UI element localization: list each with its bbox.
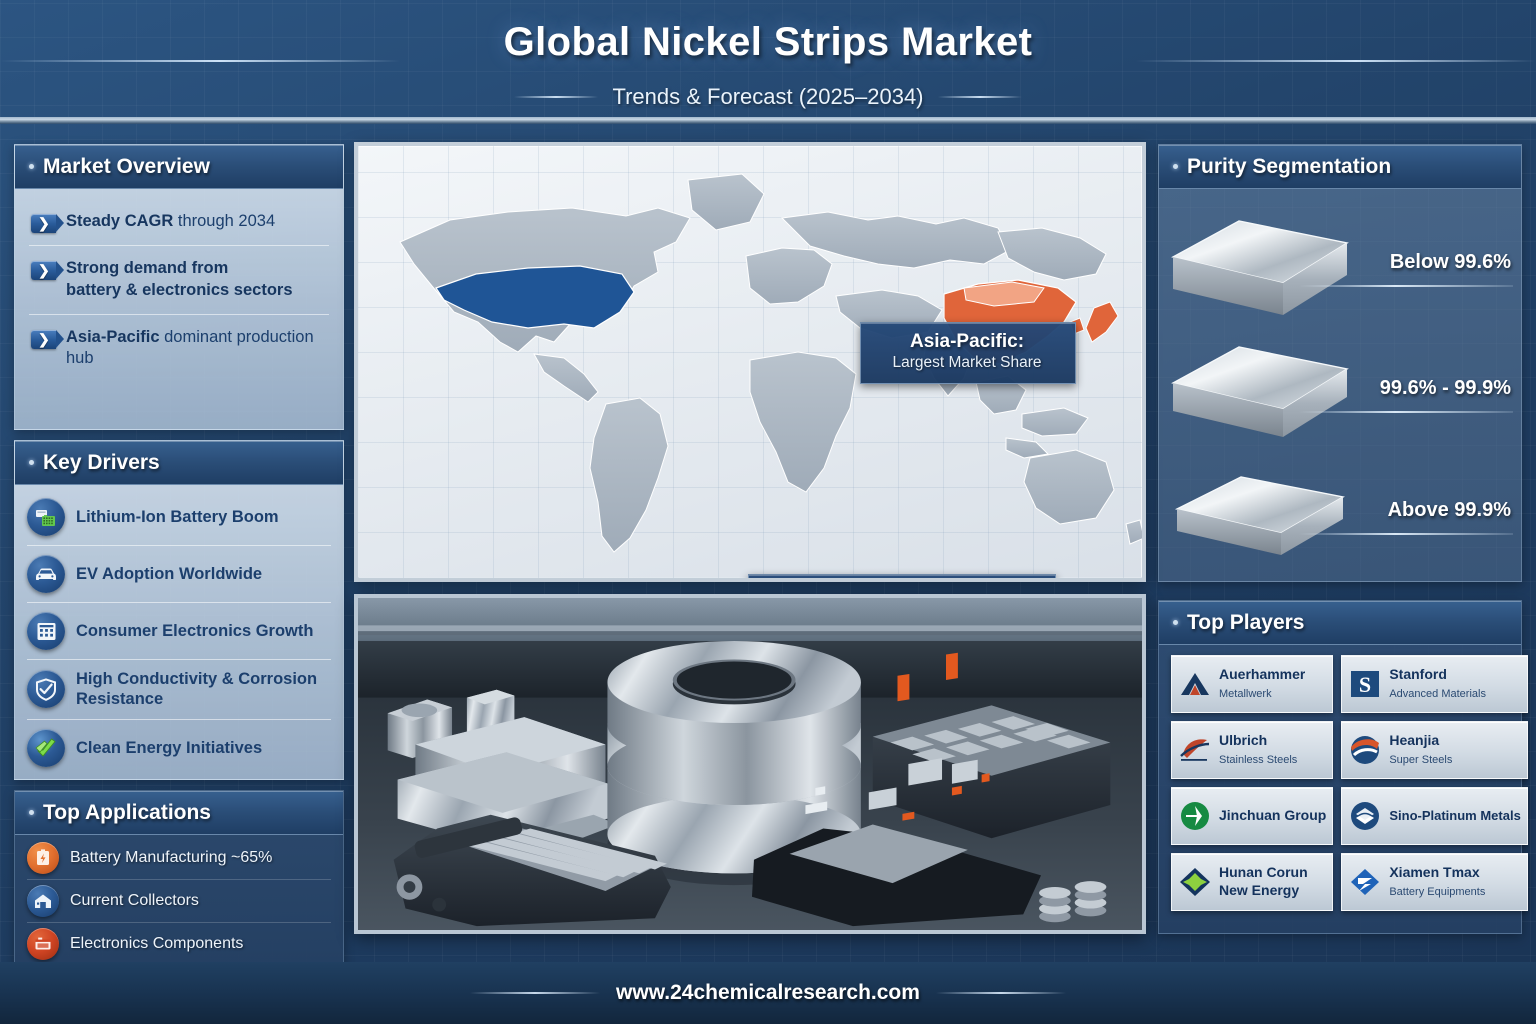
key-drivers-list: Lithium-Ion Battery Boom EV Adoption Wor… [15,485,343,776]
panel-header-top-players: Top Players [1159,601,1521,645]
car-icon [27,555,65,593]
bullet-dot-icon [29,810,34,815]
shield-check-icon [27,670,65,708]
battery-cell-icon [27,842,59,874]
list-item[interactable]: Electronics Components [27,922,331,965]
list-item[interactable]: Lithium-Ion Battery Boom [27,489,331,545]
panel-title-text: Purity Segmentation [1187,155,1391,179]
list-item[interactable]: ❯ Asia-Pacific dominant production hub [29,314,329,383]
player-card-hunan-corun[interactable]: Hunan Corun New Energy [1171,853,1333,911]
bullet-dot-icon [29,164,34,169]
infographic-root: Global Nickel Strips Market Trends & For… [0,0,1536,1024]
panel-market-overview: Market Overview ❯ Steady CAGR through 20… [14,144,344,430]
subtitle-dash-left [514,96,598,98]
driver-label: Lithium-Ion Battery Boom [76,507,279,527]
application-label: Battery Manufacturing ~65% [70,849,272,867]
chevron-right-icon: ❯ [31,330,56,349]
player-name: Stanford [1389,666,1447,682]
world-map-panel: Asia-Pacific: Largest Market Share North… [354,142,1146,582]
player-name: Heanjia [1389,732,1439,748]
panel-title-text: Top Players [1187,611,1305,635]
battery-icon [27,498,65,536]
panel-header-purity: Purity Segmentation [1159,145,1521,189]
ulbrich-logo-icon [1178,733,1212,767]
driver-label: Consumer Electronics Growth [76,621,313,641]
overview-bold-0: Steady CAGR [66,212,173,230]
purity-underline [1299,285,1513,287]
player-card-stanford[interactable]: S Stanford Advanced Materials [1341,655,1527,713]
chevron-right-icon: ❯ [31,214,56,233]
list-item[interactable]: ❯ Steady CAGR through 2034 [29,199,329,245]
purity-row[interactable]: Below 99.6% [1159,207,1521,331]
market-overview-list: ❯ Steady CAGR through 2034 ❯ Strong dema… [15,189,343,382]
player-name: Jinchuan Group [1219,807,1326,823]
bullet-dot-icon [29,460,34,465]
player-sub: New Energy [1219,882,1299,898]
collector-icon [27,885,59,917]
player-name: Hunan Corun [1219,864,1308,880]
driver-label: High Conductivity & Corrosion Resistance [76,669,331,710]
map-tag-asia-pacific[interactable]: Asia-Pacific: Largest Market Share [860,322,1076,384]
map-tag-title: Asia-Pacific: [875,331,1059,353]
header-banner: Global Nickel Strips Market Trends & For… [0,0,1536,124]
product-photo-panel [354,594,1146,934]
panel-header-key-drivers: Key Drivers [15,441,343,485]
sino-platinum-logo-icon [1348,799,1382,833]
subtitle-dash-right [938,96,1022,98]
map-tag-subtitle: Largest Market Share [875,354,1059,373]
overview-rest-0: through 2034 [173,212,275,230]
purity-underline [1299,411,1513,413]
player-card-heanjia[interactable]: Heanjia Super Steels [1341,721,1527,779]
map-tag-north-america[interactable]: North America Battery Reshoring & Defens… [748,574,1056,582]
player-name: Auerhammer [1219,666,1305,682]
overview-bold-2: Asia-Pacific [66,328,160,346]
purity-label: Below 99.6% [1305,251,1511,274]
overview-rest-1: battery & electronics sectors [66,281,293,299]
list-item[interactable]: Battery Manufacturing ~65% [27,837,331,879]
footer-dash-left [470,992,600,994]
footer-url[interactable]: www.24chemicalresearch.com [616,981,920,1005]
player-sub: Stainless Steels [1219,754,1297,766]
player-card-auerhammer[interactable]: Auerhammer Metallwerk [1171,655,1333,713]
purity-underline [1299,533,1513,535]
purity-row[interactable]: Above 99.9% [1159,457,1521,581]
player-sub: Super Steels [1389,754,1452,766]
panel-top-applications: Top Applications Battery Manufacturing ~… [14,790,344,990]
top-players-grid: Auerhammer Metallwerk S Stanford Advance… [1159,645,1521,921]
purity-label: Above 99.9% [1305,499,1511,522]
application-label: Current Collectors [70,892,199,910]
heanjia-logo-icon [1348,733,1382,767]
purity-row[interactable]: 99.6% - 99.9% [1159,333,1521,457]
player-name: Xiamen Tmax [1389,864,1479,880]
purity-rows: Below 99.6% 99.6% - 99.9% Above 99 [1159,189,1521,583]
jinchuan-logo-icon [1178,799,1212,833]
player-sub: Advanced Materials [1389,688,1486,700]
list-item[interactable]: High Conductivity & Corrosion Resistance [27,659,331,719]
driver-label: EV Adoption Worldwide [76,564,262,584]
player-card-ulbrich[interactable]: Ulbrich Stainless Steels [1171,721,1333,779]
application-label: Electronics Components [70,935,243,953]
driver-label: Clean Energy Initiatives [76,738,262,758]
stanford-logo-icon: S [1348,667,1382,701]
leaf-check-icon [27,729,65,767]
list-item[interactable]: Clean Energy Initiatives [27,719,331,776]
chevron-right-icon: ❯ [31,261,56,280]
list-item[interactable]: Current Collectors [27,879,331,922]
purity-label: 99.6% - 99.9% [1305,377,1511,400]
player-card-xiamen-tmax[interactable]: Xiamen Tmax Battery Equipments [1341,853,1527,911]
nickel-products-photo [358,598,1142,930]
player-sub: Metallwerk [1219,688,1272,700]
player-name: Ulbrich [1219,732,1267,748]
list-item[interactable]: Consumer Electronics Growth [27,602,331,659]
svg-text:S: S [1359,672,1371,697]
player-sub: Battery Equipments [1389,886,1485,898]
footer-bar: www.24chemicalresearch.com [0,962,1536,1024]
page-title: Global Nickel Strips Market [0,20,1536,65]
panel-header-top-applications: Top Applications [15,791,343,835]
chip-grid-icon [27,612,65,650]
auerhammer-logo-icon [1178,667,1212,701]
player-card-sino-platinum[interactable]: Sino-Platinum Metals [1341,787,1527,845]
player-name: Sino-Platinum Metals [1389,808,1520,823]
corun-logo-icon [1178,865,1212,899]
panel-title-text: Key Drivers [43,451,160,475]
panel-header-market-overview: Market Overview [15,145,343,189]
list-item[interactable]: EV Adoption Worldwide [27,545,331,602]
panel-top-players: Top Players Auerhammer Metallwerk S Stan… [1158,600,1522,934]
bullet-dot-icon [1173,164,1178,169]
subtitle-row: Trends & Forecast (2025–2034) [0,84,1536,110]
panel-key-drivers: Key Drivers Lithium-Ion Battery Boom EV … [14,440,344,780]
panel-title-text: Market Overview [43,155,210,179]
tmax-logo-icon [1348,865,1382,899]
panel-purity-segmentation: Purity Segmentation [1158,144,1522,582]
page-subtitle: Trends & Forecast (2025–2034) [612,84,923,110]
panel-title-text: Top Applications [43,801,211,825]
footer-dash-right [936,992,1066,994]
player-card-jinchuan[interactable]: Jinchuan Group [1171,787,1333,845]
circuit-board-icon [27,928,59,960]
overview-bold-1: Strong demand from [66,259,228,277]
list-item[interactable]: ❯ Strong demand frombattery & electronic… [29,245,329,314]
bullet-dot-icon [1173,620,1178,625]
